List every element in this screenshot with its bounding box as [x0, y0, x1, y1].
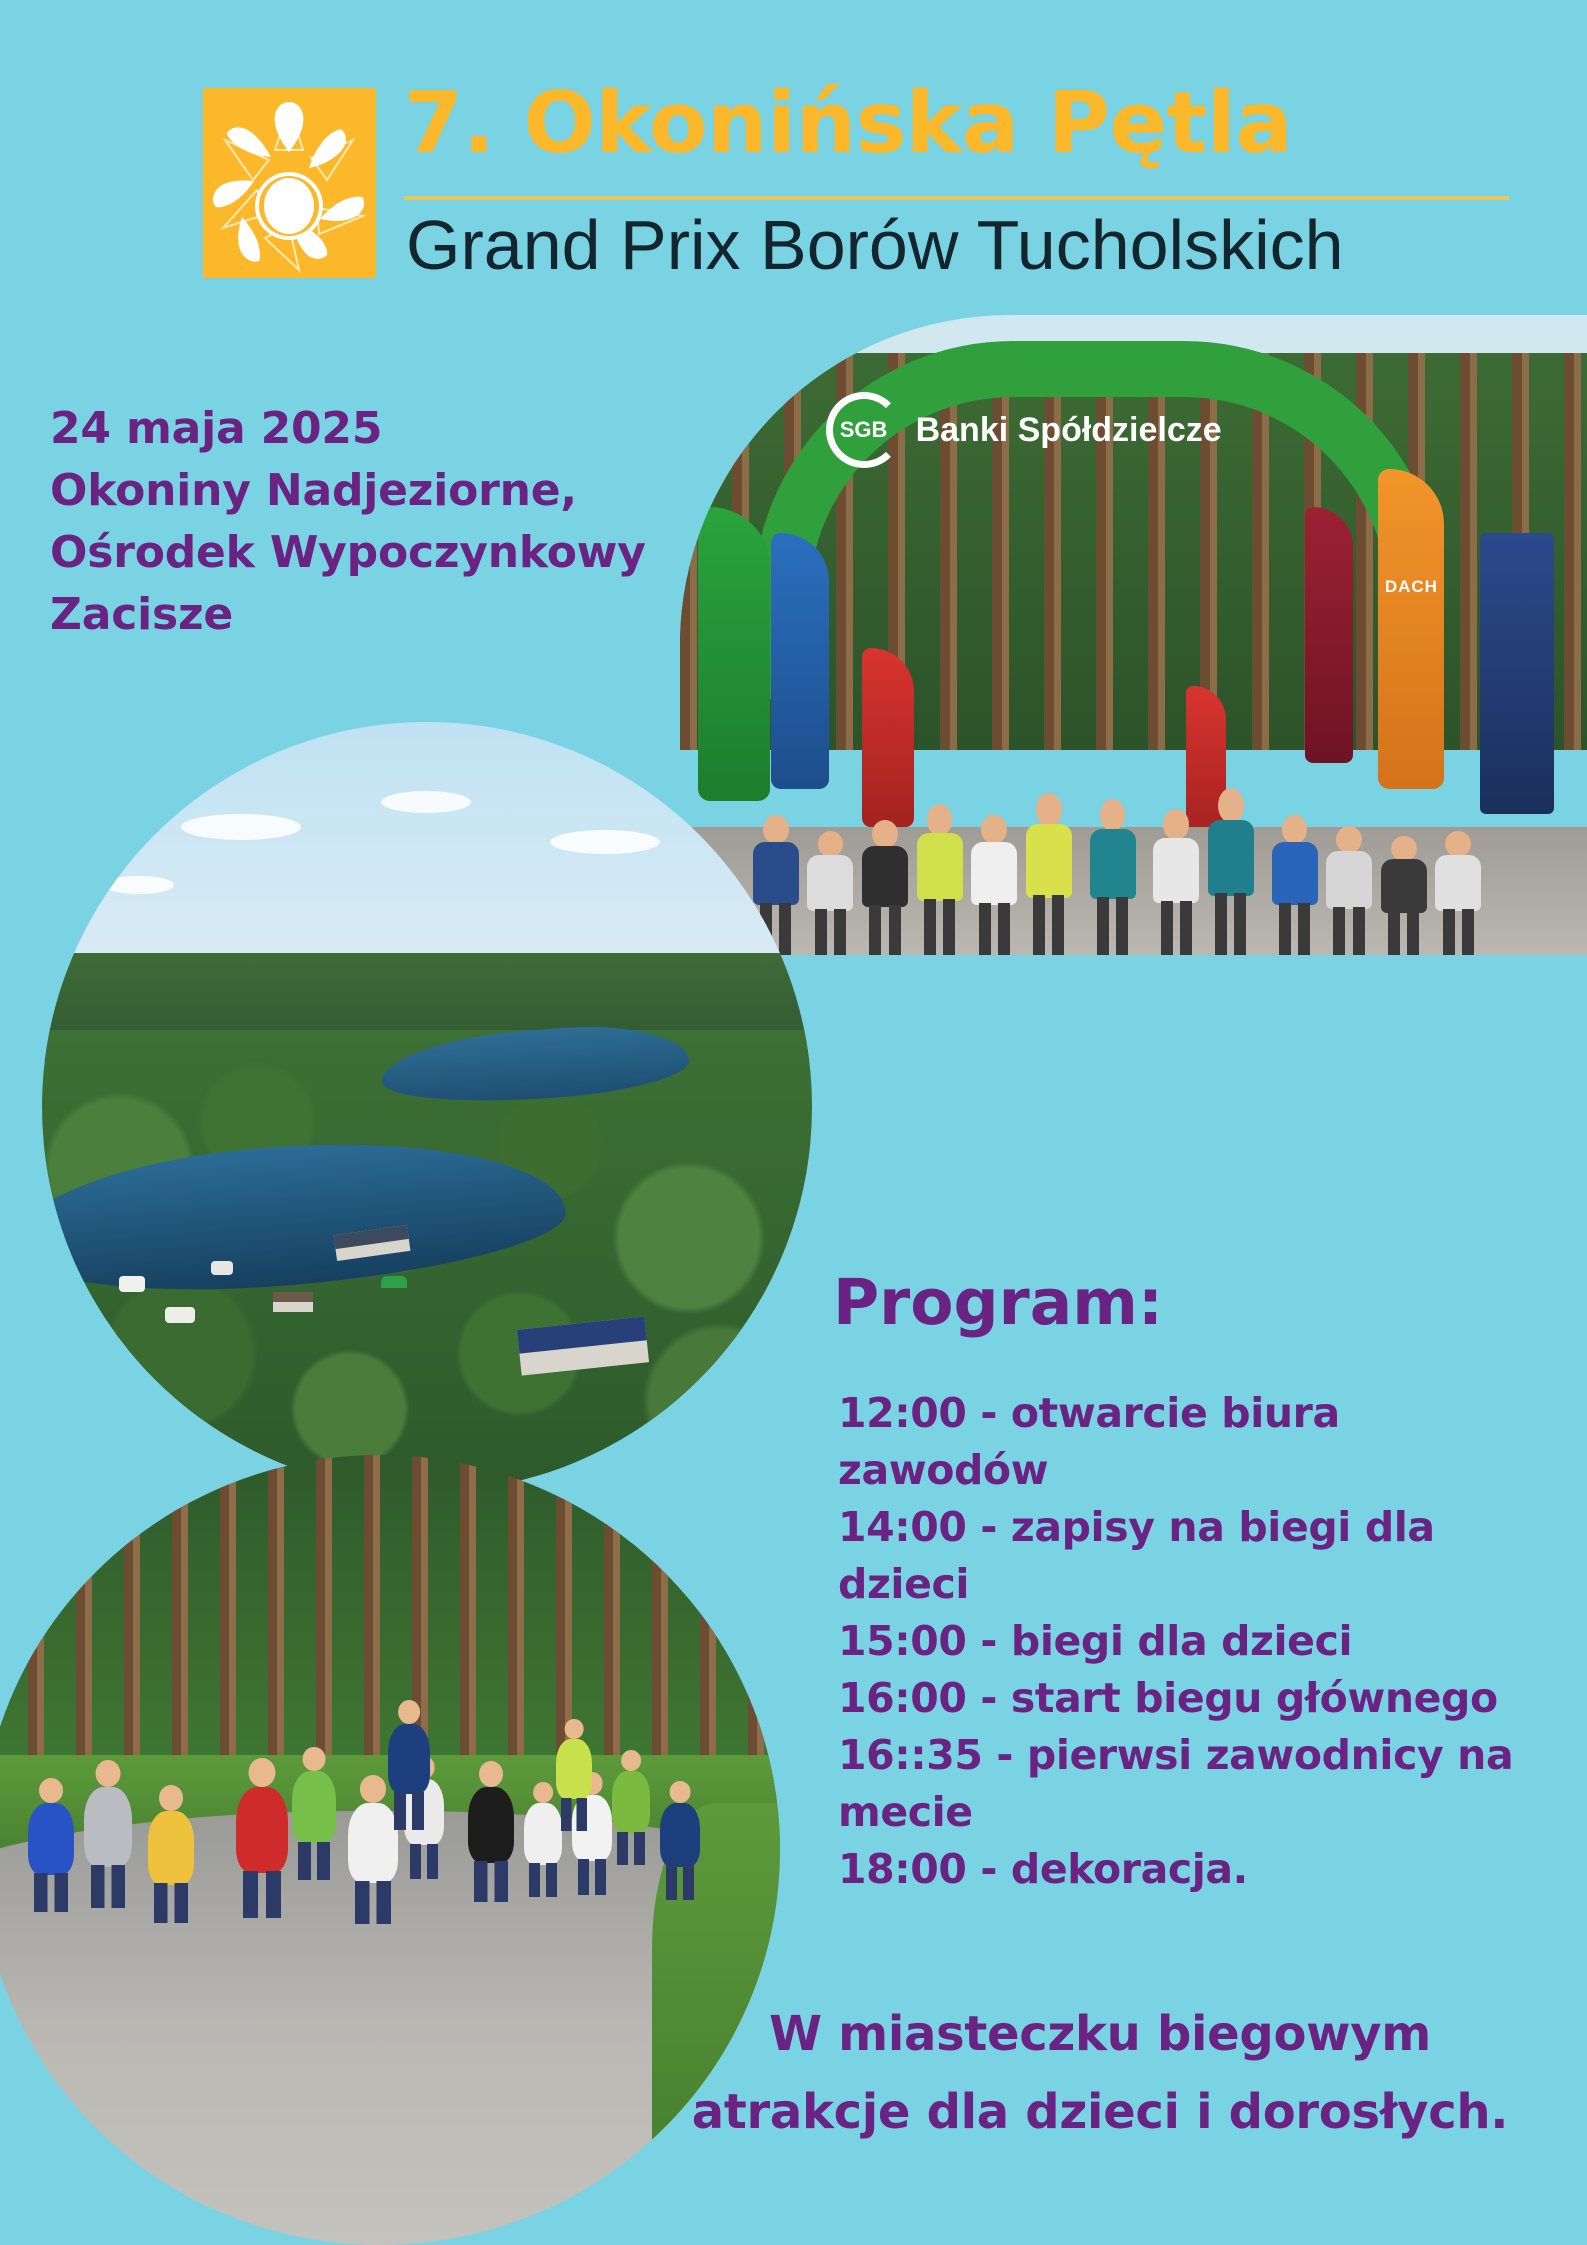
- camper-3: [211, 1261, 233, 1275]
- event-date: 24 maja 2025: [50, 398, 570, 460]
- race-start-arch-photo: SGB Banki Spółdzielcze DACH: [680, 315, 1587, 955]
- program-item: 14:00 - zapisy na biegi dla dzieci: [838, 1499, 1558, 1613]
- page-title: 7. Okonińska Pętla: [404, 78, 1524, 170]
- program-item: 18:00 - dekoracja.: [838, 1841, 1558, 1898]
- tagline: W miasteczku biegowym atrakcje dla dziec…: [640, 1995, 1560, 2151]
- title-underline: [404, 196, 1509, 200]
- event-info: 24 maja 2025 Okoniny Nadjeziorne, Ośrode…: [50, 398, 570, 646]
- poster-header: 7. Okonińska Pętla Grand Prix Borów Tuch…: [0, 0, 1587, 290]
- tagline-line-2: atrakcje dla dzieci i dorosłych.: [640, 2073, 1560, 2151]
- resort-building-3: [273, 1292, 313, 1312]
- aerial-lake-resort-photo: [42, 722, 812, 1492]
- program-list: 12:00 - otwarcie biura zawodów 14:00 - z…: [838, 1385, 1558, 1898]
- title-wrap: 7. Okonińska Pętla Grand Prix Borów Tuch…: [404, 78, 1524, 170]
- tagline-line-1: W miasteczku biegowym: [640, 1995, 1560, 2073]
- event-location-line-2: Ośrodek Wypoczynkowy: [50, 522, 570, 584]
- program-item: 12:00 - otwarcie biura zawodów: [838, 1385, 1558, 1499]
- program-item: 16:00 - start biegu głównego: [838, 1670, 1558, 1727]
- runner-crowd: [680, 737, 1587, 955]
- program-item: 15:00 - biegi dla dzieci: [838, 1613, 1558, 1670]
- program-heading: Program:: [833, 1268, 1163, 1338]
- program-item: 16::35 - pierwsi zawodnicy na mecie: [838, 1727, 1558, 1841]
- sun-logo: [203, 88, 376, 278]
- arch-sponsor-text: Banki Spółdzielcze: [916, 411, 1222, 450]
- banner-dach-text: DACH: [1378, 577, 1444, 597]
- camper-1: [119, 1276, 145, 1292]
- green-canopy: [381, 1276, 407, 1288]
- sgb-logo-icon: SGB: [826, 392, 902, 468]
- arch-sponsor-label: SGB Banki Spółdzielcze: [826, 392, 1390, 469]
- poster-root: 7. Okonińska Pętla Grand Prix Borów Tuch…: [0, 0, 1587, 2245]
- page-subtitle: Grand Prix Borów Tucholskich: [406, 206, 1344, 284]
- event-location-line-1: Okoniny Nadjeziorne,: [50, 460, 570, 522]
- event-location-line-3: Zacisze: [50, 584, 570, 646]
- banner-maroon-right: [1305, 507, 1353, 763]
- camper-2: [165, 1307, 195, 1323]
